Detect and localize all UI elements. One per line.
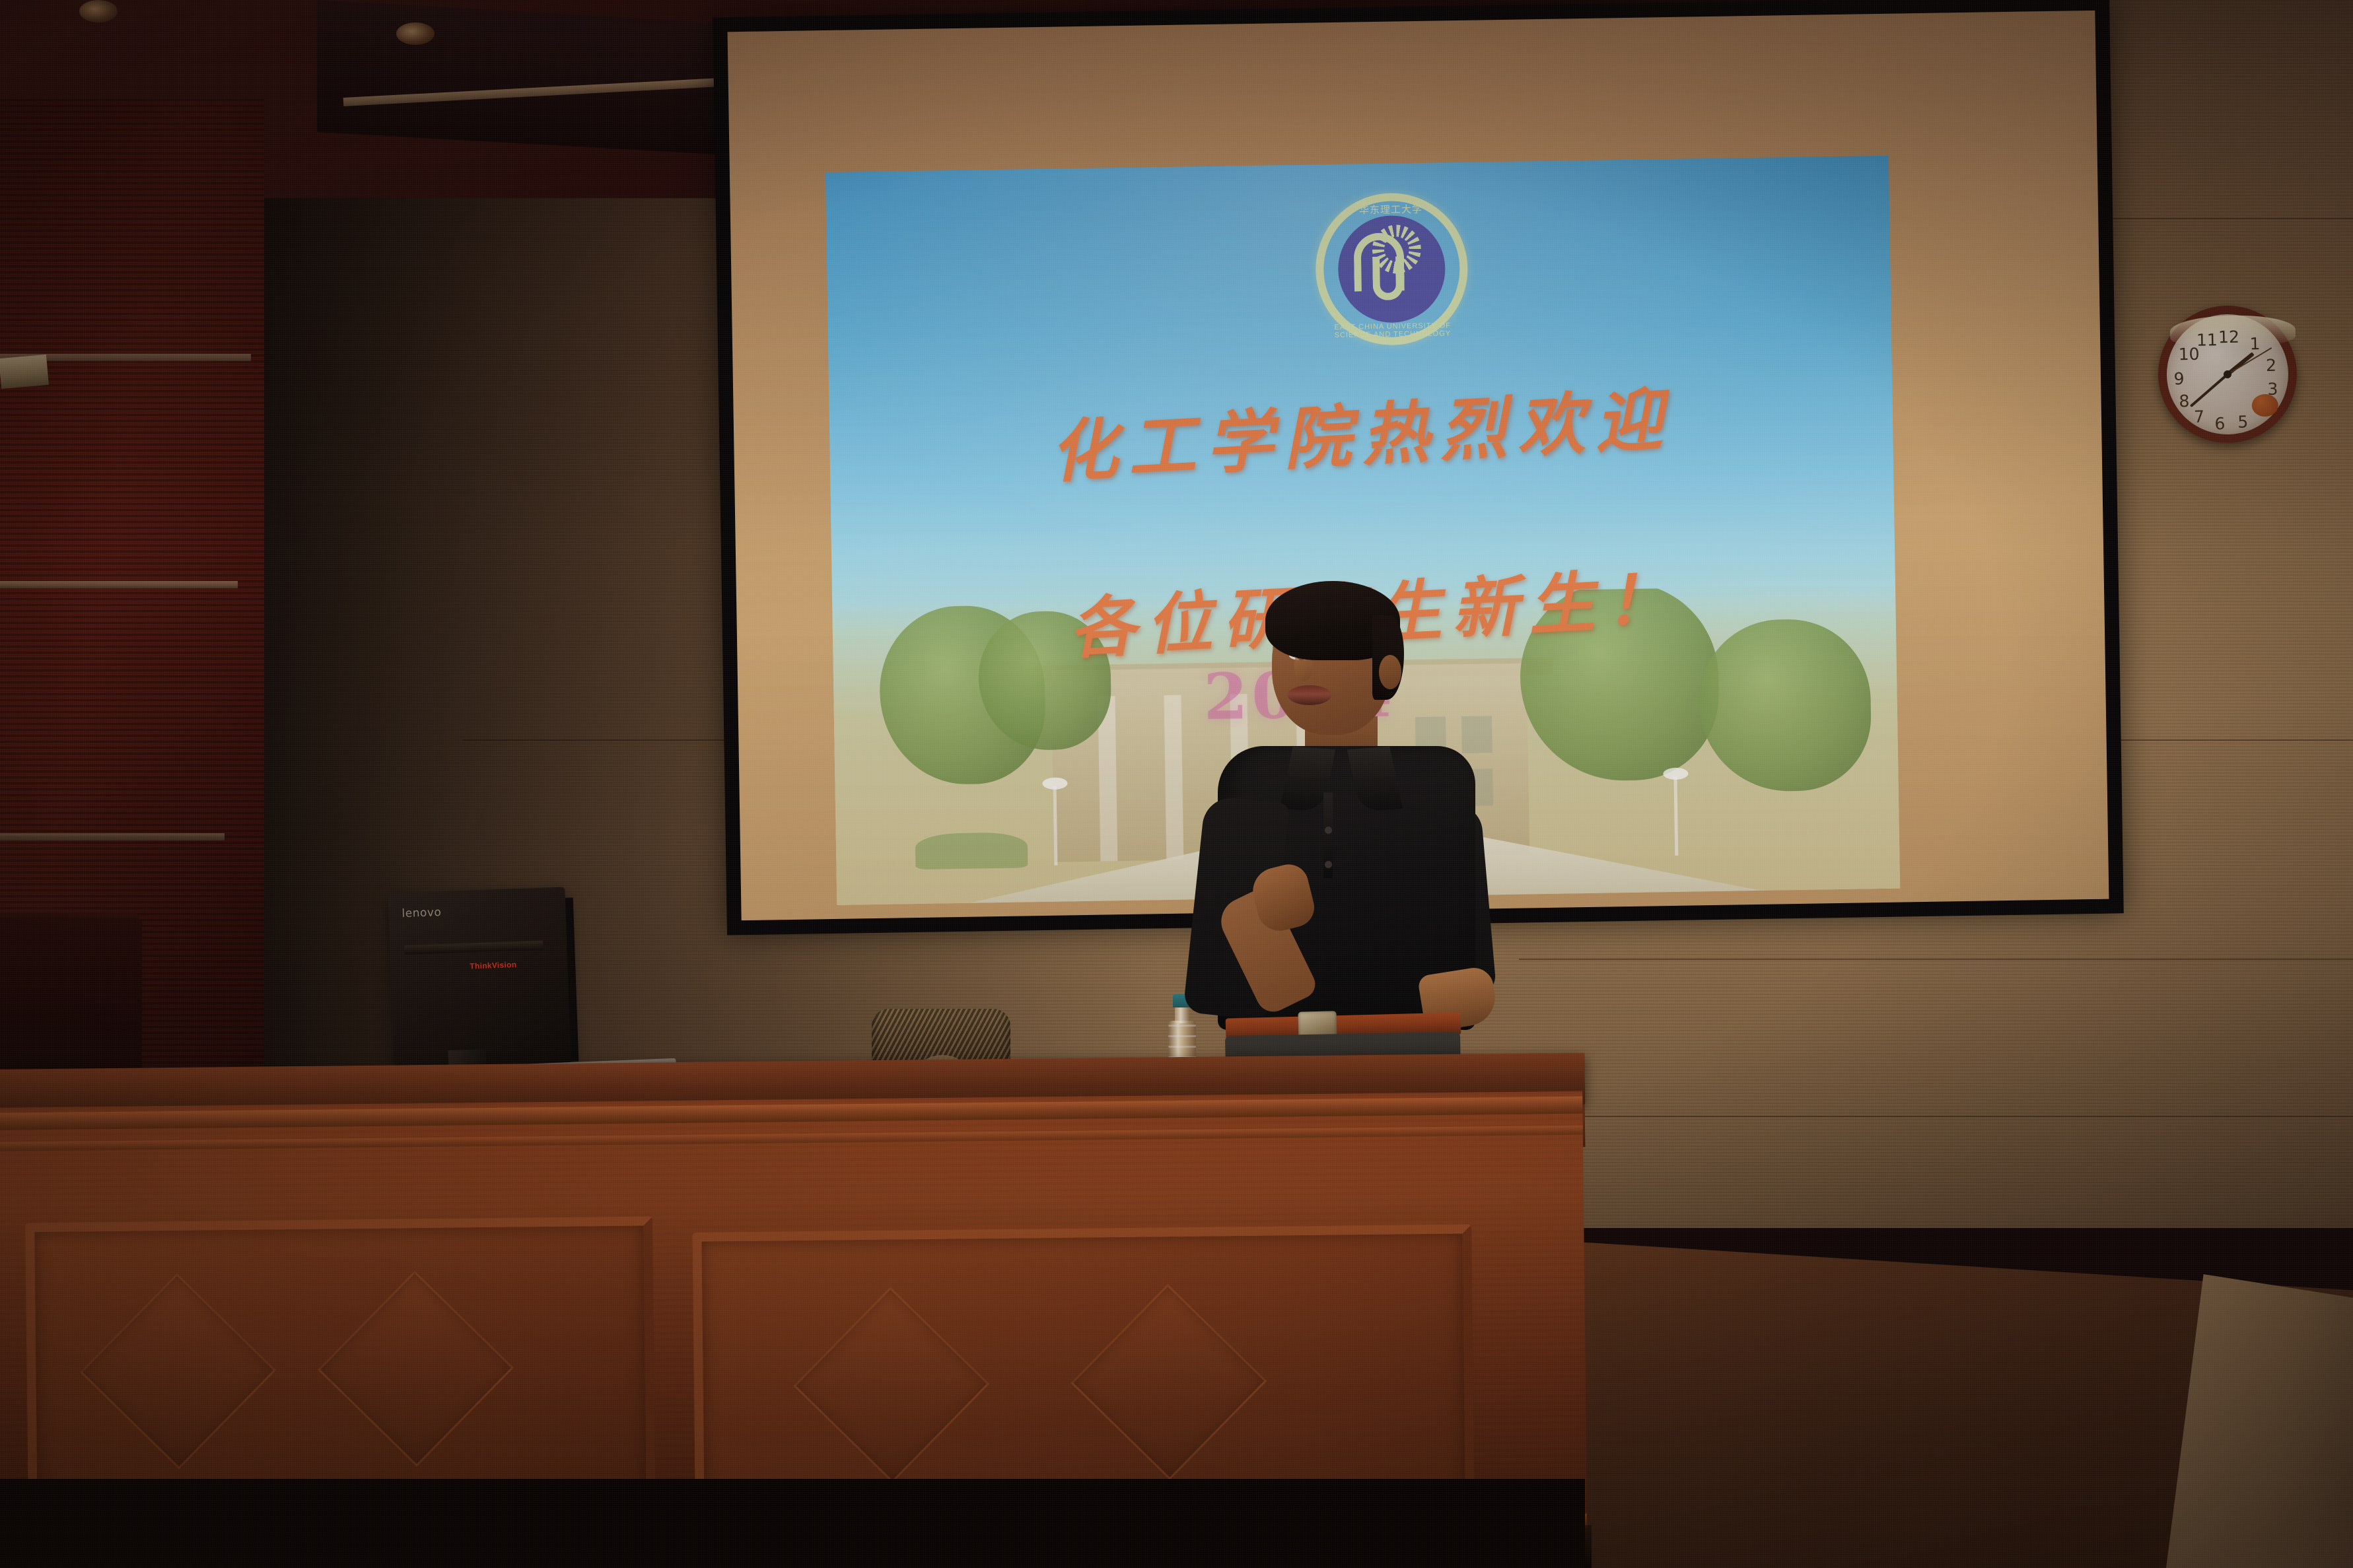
downlight-icon [396,22,435,45]
desk-diamond-motif [318,1271,514,1467]
desk-panel-left [25,1216,656,1513]
wall-seam [1519,959,2353,960]
clock-numeral: 5 [2234,413,2251,427]
emblem-english-name: EAST CHINA UNIVERSITY OF SCIENCE AND TEC… [1317,322,1469,340]
thinkvision-logo: ThinkVision [470,960,517,971]
presenter [1162,581,1506,1109]
wall-seam [1519,1116,2353,1117]
polo-button [1325,861,1332,868]
university-emblem: 华东理工大学 EAST CHINA UNIVERSITY OF SCIENCE … [1315,192,1469,347]
polo-button [1325,827,1332,834]
lenovo-logo: lenovo [402,906,441,920]
clock-numeral: 1 [2246,334,2263,349]
clock-sticker [2252,394,2279,417]
foreground-floor [0,1479,1585,1568]
emblem-glyph-lower [1372,256,1403,300]
emblem-chinese-name: 华东理工大学 [1315,201,1467,218]
clock-numeral: 9 [2170,369,2187,384]
clock-numeral: 10 [2178,345,2195,359]
clock-numeral: 3 [2264,380,2281,394]
clock-numeral: 12 [2218,327,2235,342]
desk-diamond-motif [1071,1284,1267,1480]
presenter-mouth [1288,685,1331,705]
campus-lamppost [1673,776,1678,856]
desk-diamond-motif [793,1287,989,1483]
monitor-vent [404,941,543,955]
presenter-ear [1379,655,1401,689]
lenovo-thinkvision-monitor: lenovo ThinkVision [388,887,571,1070]
clock-numeral: 2 [2263,355,2280,370]
campus-tree [1698,618,1872,792]
downlight-icon [79,0,118,22]
clock-center-pin [2224,370,2231,378]
clock-numeral: 6 [2211,414,2228,428]
clock-numeral: 11 [2196,330,2214,345]
desk-diamond-motif [80,1273,276,1469]
clock-numeral: 7 [2191,407,2208,422]
lecture-hall-photo: 华东理工大学 EAST CHINA UNIVERSITY OF SCIENCE … [0,0,2353,1568]
campus-hedge [915,832,1028,869]
clock-minute-hand [2190,373,2228,407]
desk-second-moulding [0,1126,1583,1151]
